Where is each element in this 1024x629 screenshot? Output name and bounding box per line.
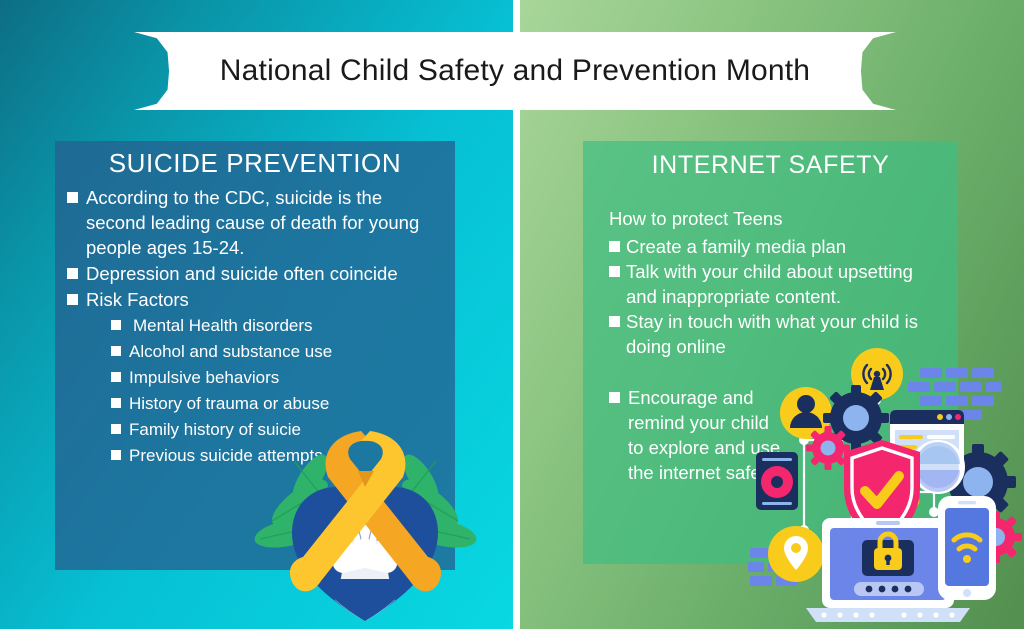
suicide-prevention-heading: SUICIDE PREVENTION [55, 141, 455, 179]
square-bullet-icon [609, 266, 620, 277]
square-bullet-icon [609, 316, 620, 327]
square-bullet-icon [67, 192, 78, 203]
list-item-label: According to the CDC, suicide is the sec… [86, 185, 441, 260]
list-item: According to the CDC, suicide is the sec… [67, 185, 441, 260]
list-item: Risk Factors [67, 287, 441, 312]
square-bullet-icon [111, 346, 121, 356]
hard-drive-icon [756, 452, 798, 510]
square-bullet-icon [67, 268, 78, 279]
internet-safety-intro: How to protect Teens [609, 206, 944, 232]
sub-list-item: Mental Health disorders [67, 313, 441, 338]
square-bullet-icon [609, 392, 620, 403]
list-item: Create a family media plan [609, 234, 944, 259]
padlock-icon [862, 534, 914, 576]
sub-list-item-label: Mental Health disorders [129, 313, 313, 338]
title-banner: National Child Safety and Prevention Mon… [134, 32, 896, 110]
square-bullet-icon [111, 320, 121, 330]
sub-list-item: Impulsive behaviors [67, 365, 441, 390]
list-item-label: Create a family media plan [626, 234, 846, 259]
sub-list-item-label: History of trauma or abuse [129, 391, 329, 416]
list-item-label: Risk Factors [86, 287, 189, 312]
square-bullet-icon [67, 294, 78, 305]
location-pin-icon [768, 526, 824, 582]
list-item: Talk with your child about upsetting and… [609, 259, 944, 309]
sub-list-item-label: Alcohol and substance use [129, 339, 332, 364]
internet-safety-illustration [748, 352, 1024, 629]
square-bullet-icon [111, 372, 121, 382]
gear-pink-small-icon [806, 426, 850, 470]
list-item-label: Depression and suicide often coincide [86, 261, 398, 286]
user-badge-icon [780, 387, 832, 439]
list-item-label: Talk with your child about upsetting and… [626, 259, 944, 309]
suicide-prevention-illustration [258, 425, 473, 629]
list-item: Depression and suicide often coincide [67, 261, 441, 286]
sub-list-item-label: Impulsive behaviors [129, 365, 279, 390]
smartphone-wifi-icon [938, 496, 996, 600]
square-bullet-icon [111, 398, 121, 408]
square-bullet-icon [111, 450, 121, 460]
square-bullet-icon [609, 241, 620, 252]
page-title: National Child Safety and Prevention Mon… [220, 54, 810, 88]
sub-list-item: Alcohol and substance use [67, 339, 441, 364]
sub-list-item: History of trauma or abuse [67, 391, 441, 416]
internet-safety-heading: INTERNET SAFETY [583, 141, 958, 180]
square-bullet-icon [111, 424, 121, 434]
